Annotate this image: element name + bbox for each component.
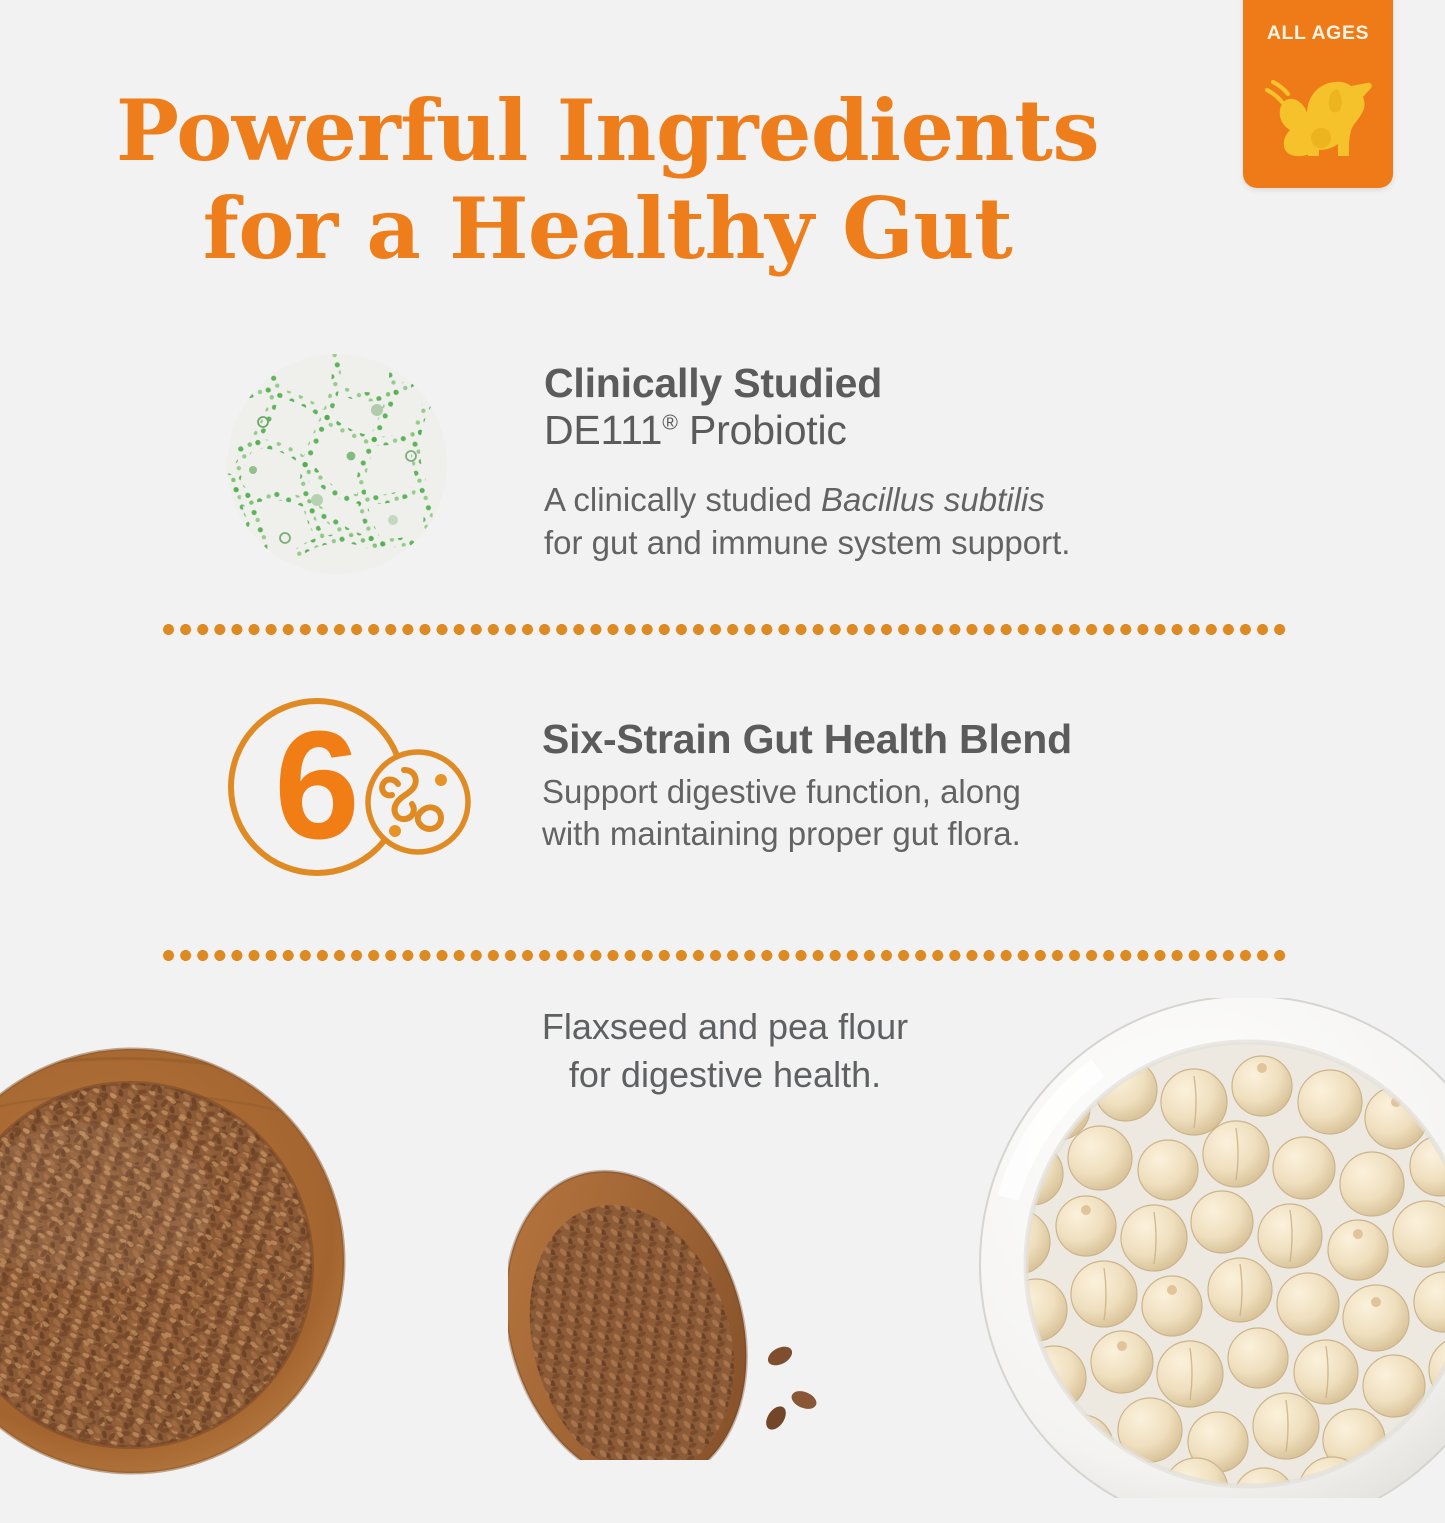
feature-clinically-studied-probiotic: Clinically Studied DE111® Probiotic A cl… xyxy=(225,352,1070,582)
bottom-caption-line1: Flaxseed and pea flour xyxy=(542,1006,908,1047)
microscope-bacteria-circle-icon xyxy=(225,352,450,582)
feature-title-strong: Clinically Studied xyxy=(544,360,1070,407)
page-title-line2: for a Healthy Gut xyxy=(0,180,1215,278)
feature-body: A clinically studied Bacillus subtilis f… xyxy=(544,479,1070,564)
flaxseed-wooden-spoon-photo xyxy=(508,1160,868,1460)
svg-text:6: 6 xyxy=(274,699,360,871)
page-title: Powerful Ingredients for a Healthy Gut xyxy=(0,82,1215,279)
all-ages-label: ALL AGES xyxy=(1267,24,1369,44)
bottom-caption-line2: for digestive health. xyxy=(569,1054,881,1095)
feature-title-light: DE111® Probiotic xyxy=(544,407,1070,454)
feature-body-line1-pre: A clinically studied xyxy=(544,481,821,518)
all-ages-badge: ALL AGES xyxy=(1243,0,1393,188)
feature-body: Support digestive function, along with m… xyxy=(542,771,1072,856)
dotted-divider-2 xyxy=(160,950,1288,961)
feature-six-strain-blend: 6 Six-Strain Gut Health Blend Support di… xyxy=(222,692,1072,887)
six-strain-blend-icon: 6 xyxy=(222,692,482,887)
flaxseed-wooden-bowl-photo xyxy=(0,1003,402,1523)
feature-body-line2: for gut and immune system support. xyxy=(544,524,1070,561)
feature-title: Clinically Studied DE111® Probiotic xyxy=(544,360,1070,453)
species-name: Bacillus subtilis xyxy=(821,481,1045,518)
de111-text: DE111 xyxy=(544,407,662,453)
registered-mark: ® xyxy=(662,410,678,434)
feature-body-line2: with maintaining proper gut flora. xyxy=(542,815,1021,852)
feature-title-strong: Six-Strain Gut Health Blend xyxy=(542,716,1072,763)
feature-body-line1: Support digestive function, along xyxy=(542,773,1021,810)
dotted-divider-1 xyxy=(160,624,1288,635)
sitting-dog-icon xyxy=(1259,56,1377,164)
feature-title: Six-Strain Gut Health Blend xyxy=(542,716,1072,763)
probiotic-text: Probiotic xyxy=(678,407,847,453)
chickpea-white-bowl-photo xyxy=(948,998,1445,1498)
page-title-line1: Powerful Ingredients xyxy=(116,81,1099,180)
